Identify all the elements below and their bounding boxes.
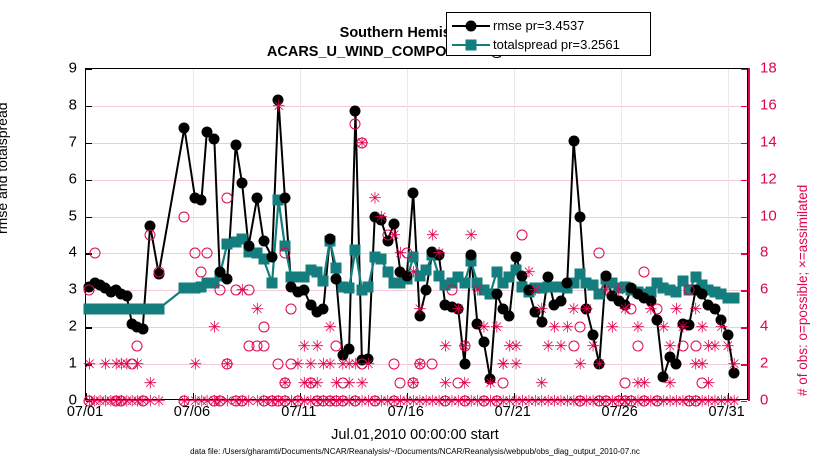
obs-possible-marker [279,377,290,388]
rmse-point [209,134,220,145]
obs-assimilated-marker: ✳ [535,376,548,389]
rmse-point [709,303,720,314]
obs-assimilated-marker: ✳ [676,321,689,334]
obs-possible-marker [89,248,100,259]
obs-assimilated-marker: ✳ [657,321,670,334]
obs-possible-marker [222,359,233,370]
obs-assimilated-marker: ✳ [387,229,400,242]
x-axis-tick-label: 07/31 [708,404,744,420]
obs-assimilated-marker: ✳ [298,339,311,352]
obs-assimilated-marker: ✳ [272,99,285,112]
obs-possible-marker [395,377,406,388]
rmse-point [299,285,310,296]
obs-possible-marker [517,230,528,241]
rmse-point [696,289,707,300]
obs-possible-marker [132,340,143,351]
obs-assimilated-marker: ✳ [535,302,548,315]
x-axis-tick-label: 07/06 [174,404,210,420]
y-axis-tick-label-right: 8 [760,244,800,261]
obs-possible-marker [639,266,650,277]
totalspread-point [318,276,329,287]
x-axis-tick-label: 07/11 [281,404,316,420]
totalspread-point [331,263,342,274]
obs-assimilated-marker: ✳ [715,321,728,334]
obs-possible-marker [190,248,201,259]
obs-possible-marker [427,359,438,370]
y-axis-tick-label-left: 6 [37,170,77,187]
obs-assimilated-marker: ✳ [471,284,484,297]
obs-assimilated-marker: ✳ [464,229,477,242]
rmse-point [600,270,611,281]
obs-possible-marker [408,377,419,388]
obs-possible-marker [684,285,695,296]
totalspread-point [267,277,278,288]
totalspread-point [363,281,374,292]
obs-assimilated-marker: ✳ [728,358,741,371]
rmse-point [258,235,269,246]
obs-assimilated-marker: ✳ [702,376,715,389]
obs-possible-marker [677,340,688,351]
chart-title-line1: Southern Hemisphere [0,24,830,43]
obs-assimilated-marker: ✳ [317,358,330,371]
rmse-point [504,311,515,322]
obs-assimilated-marker: ✳ [291,358,304,371]
obs-assimilated-marker: ✳ [439,339,452,352]
obs-assimilated-marker: ✳ [355,376,368,389]
legend-marker-totalspread [452,37,490,53]
x-axis-tick-label: 07/16 [388,404,424,420]
rmse-point [465,250,476,261]
obs-assimilated-marker: ✳ [323,321,336,334]
obs-possible-marker [196,266,207,277]
x-axis-tick-label: 07/01 [67,404,103,420]
obs-possible-marker [222,193,233,204]
obs-assimilated-marker: ✳ [670,302,683,315]
obs-possible-marker [126,359,137,370]
y-axis-tick-label-left: 5 [37,207,77,224]
obs-assimilated-marker: ✳ [432,247,445,260]
obs-possible-marker [350,119,361,130]
rmse-point [575,211,586,222]
y-axis-tick-label-left: 4 [37,244,77,261]
rmse-point [350,106,361,117]
obs-assimilated-marker: ✳ [567,302,580,315]
obs-possible-marker [690,340,701,351]
obs-possible-marker [153,266,164,277]
obs-possible-marker [179,211,190,222]
obs-assimilated-marker: ✳ [529,284,542,297]
rmse-point [421,285,432,296]
obs-possible-marker [258,322,269,333]
totalspread-point [421,265,432,276]
obs-assimilated-marker: ✳ [83,358,96,371]
y-axis-tick-label-left: 9 [37,60,77,77]
obs-assimilated-marker: ✳ [458,376,471,389]
obs-possible-marker [498,377,509,388]
rmse-point [267,252,278,263]
obs-possible-marker [84,285,95,296]
obs-assimilated-marker: ✳ [343,376,356,389]
obs-assimilated-marker: ✳ [208,321,221,334]
y-axis-tick-label-left: 1 [37,355,77,372]
rmse-point [459,359,470,370]
data-markers: ✳✳✳✳✳✳✳✳✳✳✳✳✳✳✳✳✳✳✳✳✳✳✳✳✳✳✳✳✳✳✳✳✳✳✳✳✳✳✳✳… [86,69,747,399]
obs-assimilated-marker: ✳ [561,321,574,334]
legend-item-rmse: rmse pr=3.4537 [452,16,645,35]
obs-assimilated-marker: ✳ [509,358,522,371]
obs-possible-marker [279,248,290,259]
obs-assimilated-marker: ✳ [407,265,420,278]
obs-possible-marker [258,340,269,351]
rmse-point [222,274,233,285]
rmse-point [121,290,132,301]
rmse-point [671,359,682,370]
totalspread-point [376,253,387,264]
obs-assimilated-marker: ✳ [586,339,599,352]
obs-possible-marker [201,248,212,259]
obs-possible-marker [214,285,225,296]
obs-possible-marker [331,340,342,351]
obs-assimilated-marker: ✳ [695,358,708,371]
obs-assimilated-marker: ✳ [484,376,497,389]
obs-assimilated-marker: ✳ [497,358,510,371]
obs-assimilated-marker: ✳ [362,358,375,371]
rmse-point [555,296,566,307]
obs-assimilated-marker: ✳ [509,339,522,352]
y-axis-tick-label-right: 2 [760,355,800,372]
obs-assimilated-marker: ✳ [189,358,202,371]
y-axis-tick-label-left: 7 [37,133,77,150]
obs-assimilated-marker: ✳ [144,376,157,389]
rmse-point [408,187,419,198]
rmse-point [478,336,489,347]
rmse-point [318,303,329,314]
obs-assimilated-marker: ✳ [689,302,702,315]
obs-possible-marker [626,303,637,314]
obs-assimilated-marker: ✳ [343,358,356,371]
obs-possible-marker [388,359,399,370]
totalspread-point [491,266,502,277]
y-axis-tick-label-left: 3 [37,281,77,298]
plot-area: ✳✳✳✳✳✳✳✳✳✳✳✳✳✳✳✳✳✳✳✳✳✳✳✳✳✳✳✳✳✳✳✳✳✳✳✳✳✳✳✳… [85,68,748,400]
chart-title-line2: ACARS_U_WIND_COMPONENT @ 400 hPa [0,43,830,62]
legend-label-totalspread: totalspread pr=3.2561 [490,37,620,52]
obs-assimilated-marker: ✳ [638,376,651,389]
y-axis-tick-label-right: 0 [760,392,800,409]
y-axis-tick-label-right: 4 [760,318,800,335]
y-axis-tick-label-left: 2 [37,318,77,335]
obs-possible-marker [446,285,457,296]
obs-assimilated-marker: ✳ [541,339,554,352]
y-axis-tick-label-right: 10 [760,207,800,224]
totalspread-point [729,292,740,303]
obs-assimilated-marker: ✳ [663,376,676,389]
rmse-point [243,241,254,252]
y-axis-tick-label-right: 12 [760,170,800,187]
y-axis-tick-label-right: 6 [760,281,800,298]
rmse-point [196,194,207,205]
obs-assimilated-marker: ✳ [310,339,323,352]
obs-possible-marker [594,248,605,259]
legend: rmse pr=3.4537 totalspread pr=3.2561 [446,12,651,56]
obs-assimilated-marker: ✳ [452,302,465,315]
rmse-point [279,193,290,204]
obs-assimilated-marker: ✳ [612,284,625,297]
obs-possible-marker [575,322,586,333]
totalspread-point [382,266,393,277]
rmse-point [230,139,241,150]
obs-possible-marker [652,303,663,314]
obs-assimilated-marker: ✳ [310,376,323,389]
rmse-point [179,123,190,134]
totalspread-point [344,283,355,294]
legend-label-rmse: rmse pr=3.4537 [490,18,584,33]
rmse-point [237,178,248,189]
left-axis-label: rmse and totalspread [0,102,10,234]
obs-assimilated-marker: ✳ [413,302,426,315]
totalspread-point [671,287,682,298]
y-axis-tick-mark-right [741,401,747,402]
obs-assimilated-marker: ✳ [490,321,503,334]
obs-assimilated-marker: ✳ [368,192,381,205]
legend-item-totalspread: totalspread pr=3.2561 [452,35,645,54]
rmse-point [542,272,553,283]
rmse-point [510,252,521,263]
obs-possible-marker [619,377,630,388]
obs-possible-marker [286,303,297,314]
obs-assimilated-marker: ✳ [522,265,535,278]
y-axis-tick-label-right: 18 [760,60,800,77]
obs-assimilated-marker: ✳ [304,358,317,371]
totalspread-point [179,283,190,294]
x-axis-label: Jul.01,2010 00:00:00 start [0,427,830,443]
obs-assimilated-marker: ✳ [580,302,593,315]
obs-assimilated-marker: ✳ [721,339,734,352]
obs-assimilated-marker: ✳ [599,284,612,297]
obs-assimilated-marker: ✳ [458,339,471,352]
rmse-point [252,193,263,204]
obs-possible-marker [273,359,284,370]
obs-possible-marker [145,230,156,241]
rmse-point [568,135,579,146]
obs-possible-marker [356,137,367,148]
chart-title: Southern Hemisphere ACARS_U_WIND_COMPONE… [0,24,830,62]
obs-assimilated-marker: ✳ [695,321,708,334]
obs-assimilated-marker: ✳ [439,376,452,389]
obs-assimilated-marker: ✳ [554,339,567,352]
obs-assimilated-marker: ✳ [708,339,721,352]
rmse-point [344,344,355,355]
totalspread-point [350,244,361,255]
obs-assimilated-marker: ✳ [152,395,165,408]
obs-possible-marker [632,340,643,351]
totalspread-point [153,303,164,314]
rmse-point [491,289,502,300]
obs-assimilated-marker: ✳ [426,229,439,242]
obs-assimilated-marker: ✳ [477,321,490,334]
y-axis-tick-label-right: 14 [760,133,800,150]
obs-possible-marker [414,359,425,370]
obs-assimilated-marker: ✳ [574,358,587,371]
totalspread-point [459,277,470,288]
x-axis-tick-label: 07/21 [495,404,531,420]
obs-assimilated-marker: ✳ [251,302,264,315]
right-axis-spine [748,68,750,401]
obs-possible-marker [401,248,412,259]
obs-assimilated-marker: ✳ [606,321,619,334]
x-axis-tick-label: 07/26 [602,404,638,420]
obs-assimilated-marker: ✳ [663,339,676,352]
right-axis-label: # of obs: o=possible; ×=assimilated [795,185,810,396]
legend-marker-rmse [452,18,490,34]
rmse-point [562,277,573,288]
rmse-point [324,233,335,244]
y-axis-tick-label-right: 16 [760,96,800,113]
obs-possible-marker [243,285,254,296]
rmse-point [137,324,148,335]
rmse-point [331,274,342,285]
obs-assimilated-marker: ✳ [548,321,561,334]
y-axis-tick-label-left: 8 [37,96,77,113]
obs-assimilated-marker: ✳ [631,321,644,334]
data-file-note: data file: /Users/gharamti/Documents/NCA… [0,447,830,456]
obs-possible-marker [568,340,579,351]
obs-assimilated-marker: ✳ [593,358,606,371]
obs-assimilated-marker: ✳ [375,210,388,223]
